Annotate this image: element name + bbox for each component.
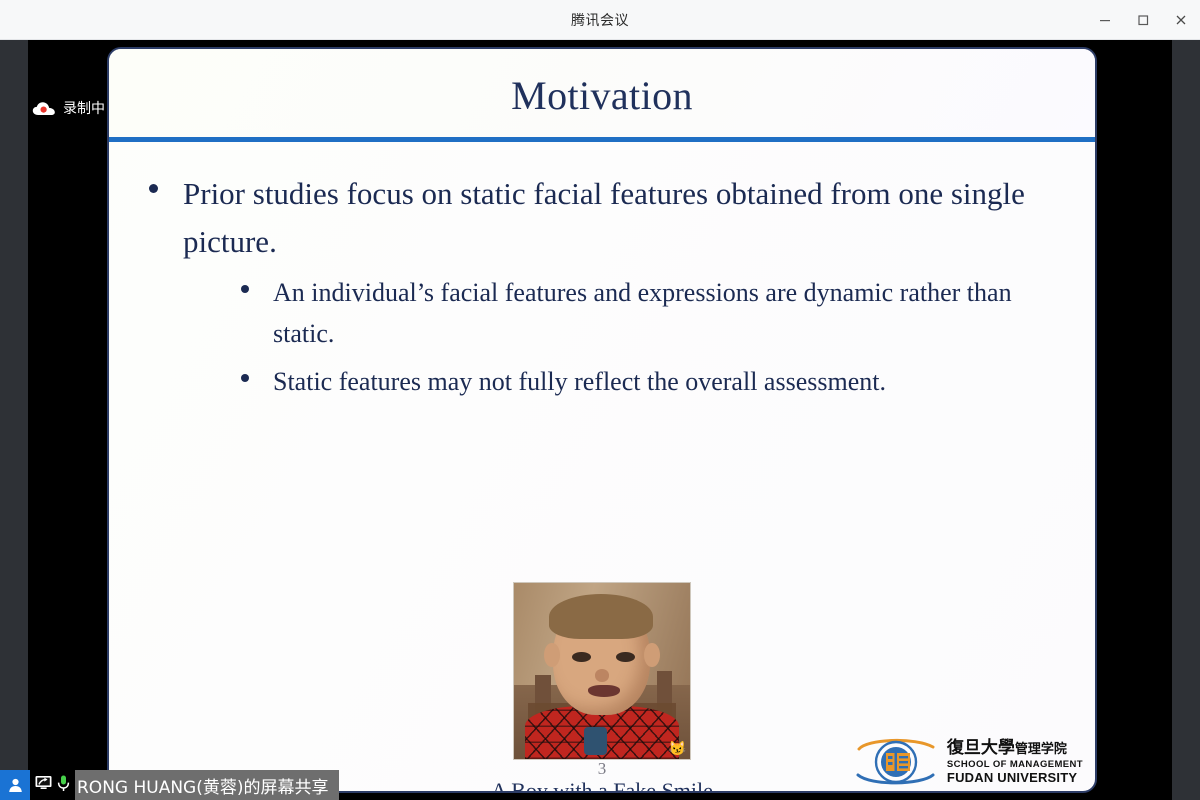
sub-bullet-list: An individual’s facial features and expr… [183,272,1065,402]
recording-indicator[interactable]: 录制中 [28,96,109,120]
microphone-icon[interactable] [56,774,71,797]
list-item: Static features may not fully reflect th… [237,361,1065,402]
boy-photo: 😼 [513,582,691,760]
window-title: 腾讯会议 [571,10,629,30]
fudan-som-logo: 復旦大學管理学院 SCHOOL OF MANAGEMENT FUDAN UNIV… [853,737,1083,787]
screen-share-icon[interactable] [34,774,53,796]
slide-body: Prior studies focus on static facial fea… [109,142,1095,793]
tencent-meeting-window: 腾讯会议 [0,0,1200,800]
logo-text-block: 復旦大學管理学院 SCHOOL OF MANAGEMENT FUDAN UNIV… [947,740,1083,784]
screen-share-label: RONG HUANG(黄蓉)的屏幕共享 [75,770,339,800]
maximize-icon [1136,13,1150,27]
minimize-icon [1098,13,1112,27]
left-sidebar-strip [0,40,28,800]
logo-cn-main: 復旦大學 [947,738,1015,758]
close-button[interactable] [1162,0,1200,40]
page-title: Motivation [511,72,693,119]
screen-share-statusbar: RONG HUANG(黄蓉)的屏幕共享 [0,770,339,800]
recording-cloud-icon [32,101,56,116]
maximize-button[interactable] [1124,0,1162,40]
logo-english-line1: SCHOOL OF MANAGEMENT [947,760,1083,770]
fudan-som-emblem-icon [853,737,939,787]
bullet-dot-icon [241,374,249,382]
window-controls [1086,0,1200,40]
bullet-dot-icon [149,184,158,193]
logo-english-line2: FUDAN UNIVERSITY [947,771,1083,784]
bullet-dot-icon [241,285,249,293]
participant-icon [7,777,24,794]
presentation-slide: Motivation Prior studies focus on static… [107,47,1097,793]
shared-screen-stage: 录制中 Motivation Prior studies focus on st… [0,40,1200,800]
minimize-button[interactable] [1086,0,1124,40]
participant-button[interactable] [0,770,30,800]
list-item: Prior studies focus on static facial fea… [139,170,1065,402]
bullet-text-level2: Static features may not fully reflect th… [273,367,886,396]
window-titlebar: 腾讯会议 [0,0,1200,40]
bullet-text-level2: An individual’s facial features and expr… [273,278,1012,348]
recording-label: 录制中 [63,98,105,118]
close-icon [1174,13,1188,27]
statusbar-icons [30,770,75,800]
cat-sticker-icon: 😼 [669,741,686,755]
logo-cn-sub: 管理学院 [1015,742,1067,757]
slide-header: Motivation [109,49,1095,142]
logo-chinese-name: 復旦大學管理学院 [947,740,1083,757]
bullet-list: Prior studies focus on static facial fea… [139,170,1065,402]
bullet-text-level1: Prior studies focus on static facial fea… [183,176,1025,259]
figure-caption: A Boy with a Fake Smile [491,778,713,793]
right-sidebar-strip [1172,40,1200,800]
list-item: An individual’s facial features and expr… [237,272,1065,354]
